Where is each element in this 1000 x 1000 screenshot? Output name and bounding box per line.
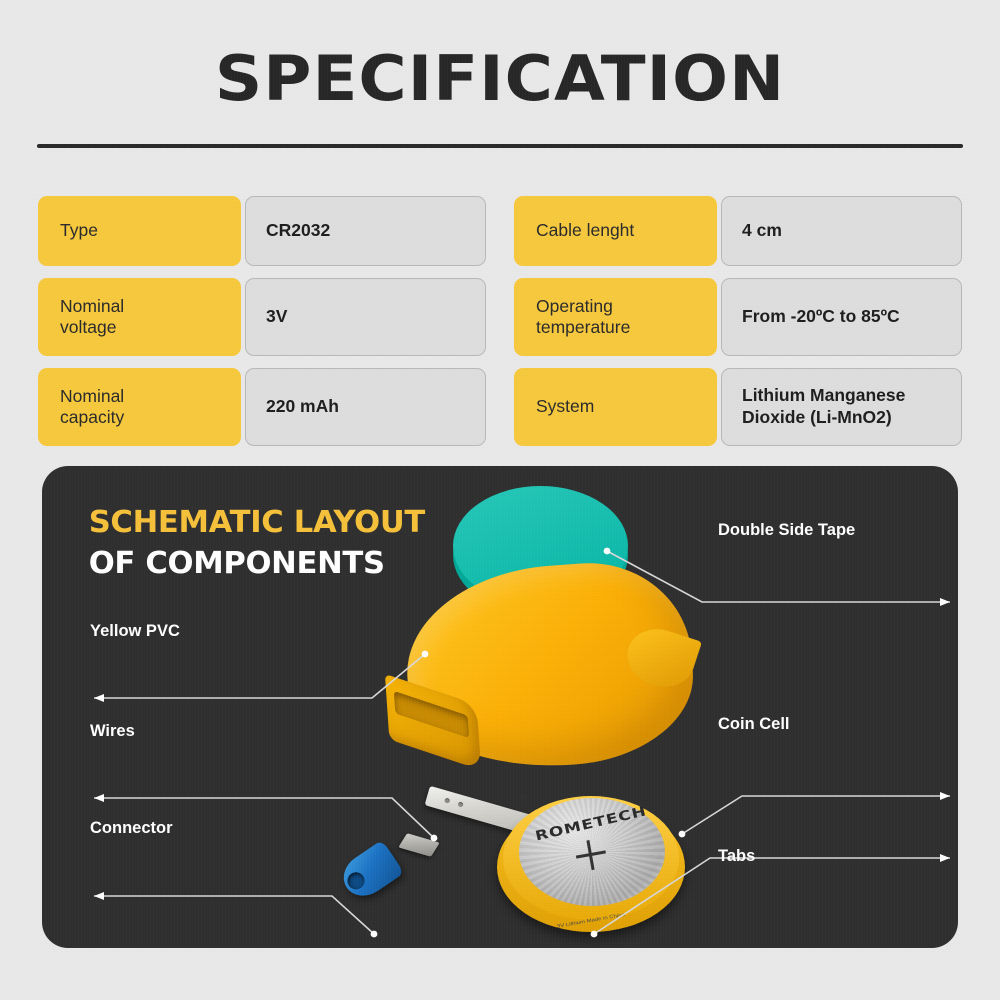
spec-key-line-2: capacity: [60, 407, 124, 427]
spec-key-operating-temperature: Operating temperature: [514, 278, 717, 356]
leader-connector: [94, 896, 374, 934]
spec-key-type: Type: [38, 196, 241, 266]
callout-connector: Connector: [90, 819, 173, 838]
spec-key-line-2: temperature: [536, 317, 630, 337]
spec-value-label: CR2032: [266, 220, 330, 242]
page-title: SPECIFICATION: [0, 48, 1000, 110]
title-divider: [37, 144, 963, 148]
spec-value-label: 4 cm: [742, 220, 782, 242]
table-row: Nominal capacity 220 mAh: [38, 368, 486, 446]
table-row: Cable lenght 4 cm: [514, 196, 962, 266]
spec-key-label: Type: [60, 220, 98, 241]
spec-key-label: Cable lenght: [536, 220, 634, 241]
table-row: Nominal voltage 3V: [38, 278, 486, 356]
table-row: Operating temperature From -20ºC to 85ºC: [514, 278, 962, 356]
anchor-yellow-pvc: [422, 651, 429, 658]
leader-yellow-pvc: [94, 654, 425, 698]
leader-tabs: [594, 858, 950, 934]
spec-key-nominal-capacity: Nominal capacity: [38, 368, 241, 446]
spec-value-cable-lenght: 4 cm: [721, 196, 962, 266]
spec-key-label: Nominal capacity: [60, 386, 124, 429]
anchor-double-side-tape: [604, 548, 611, 555]
spec-key-cable-lenght: Cable lenght: [514, 196, 717, 266]
spec-value-nominal-capacity: 220 mAh: [245, 368, 486, 446]
arrow-wires: [94, 794, 104, 802]
spec-value-label: From -20ºC to 85ºC: [742, 306, 900, 328]
arrow-yellow-pvc: [94, 694, 104, 702]
specification-table: Type CR2032 Cable lenght 4 cm Nominal vo…: [38, 196, 962, 446]
table-row: Type CR2032: [38, 196, 486, 266]
anchor-wires: [431, 835, 438, 842]
spec-value-operating-temperature: From -20ºC to 85ºC: [721, 278, 962, 356]
spec-value-label: 3V: [266, 306, 287, 328]
spec-value-system: Lithium Manganese Dioxide (Li-MnO2): [721, 368, 962, 446]
anchor-connector: [371, 931, 378, 938]
callout-double-side-tape: Double Side Tape: [718, 521, 855, 540]
callout-wires: Wires: [90, 722, 135, 741]
spec-value-type: CR2032: [245, 196, 486, 266]
callout-coin-cell: Coin Cell: [718, 715, 790, 734]
spec-value-label: Lithium Manganese Dioxide (Li-MnO2): [742, 385, 905, 429]
spec-value-label: 220 mAh: [266, 396, 339, 418]
spec-key-label: Operating temperature: [536, 296, 630, 339]
anchor-coin-cell: [679, 831, 686, 838]
spec-key-line-1: Operating: [536, 296, 613, 316]
spec-key-label: System: [536, 396, 594, 417]
arrow-coin-cell: [940, 792, 950, 800]
schematic-panel: SCHEMATIC LAYOUT OF COMPONENTS Li ROMETE…: [42, 466, 958, 948]
table-row: System Lithium Manganese Dioxide (Li-MnO…: [514, 368, 962, 446]
spec-key-line-1: Nominal: [60, 386, 124, 406]
spec-key-nominal-voltage: Nominal voltage: [38, 278, 241, 356]
spec-key-line-1: Nominal: [60, 296, 124, 316]
leader-double-side-tape: [607, 551, 950, 602]
anchor-tabs: [591, 931, 598, 938]
callout-tabs: Tabs: [718, 847, 755, 866]
spec-key-line-2: voltage: [60, 317, 116, 337]
arrow-double-side-tape: [940, 598, 950, 606]
arrow-connector: [94, 892, 104, 900]
leader-coin-cell: [682, 796, 950, 834]
spec-value-line-1: Lithium Manganese: [742, 385, 905, 405]
arrow-tabs: [940, 854, 950, 862]
spec-value-nominal-voltage: 3V: [245, 278, 486, 356]
spec-key-system: System: [514, 368, 717, 446]
spec-value-line-2: Dioxide (Li-MnO2): [742, 407, 892, 427]
spec-key-label: Nominal voltage: [60, 296, 124, 339]
callout-yellow-pvc: Yellow PVC: [90, 622, 180, 641]
